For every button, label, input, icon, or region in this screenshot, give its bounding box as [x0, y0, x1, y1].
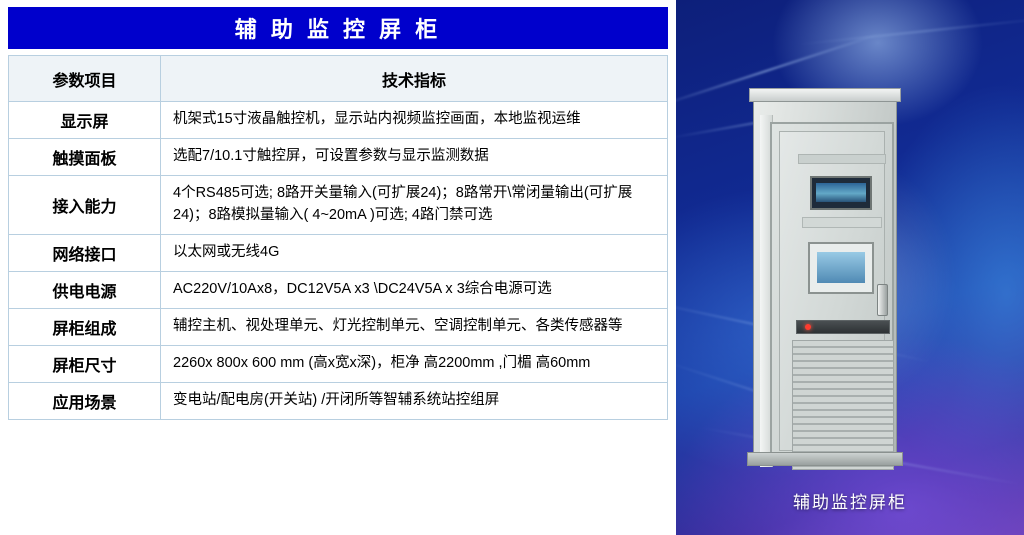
table-row: 网络接口 以太网或无线4G — [9, 234, 668, 271]
cabinet-vent-grille — [792, 340, 894, 470]
cabinet-panel-strip — [802, 217, 882, 228]
cabinet-touch-panel-icon — [808, 242, 874, 294]
specification-table: 参数项目 技术指标 显示屏 机架式15寸液晶触控机，显示站内视频监控画面，本地监… — [8, 55, 668, 420]
cabinet-label-strip — [798, 154, 886, 164]
cabinet-base — [747, 452, 903, 466]
row-value: 2260x 800x 600 mm (高x宽x深)，柜净 高2200mm ,门楣… — [161, 345, 668, 382]
product-image-panel: 辅助监控屏柜 — [676, 0, 1024, 535]
row-value: 变电站/配电房(开关站) /开闭所等智辅系统站控组屏 — [161, 382, 668, 419]
row-value: AC220V/10Ax8，DC12V5A x3 \DC24V5A x 3综合电源… — [161, 271, 668, 308]
table-row: 应用场景 变电站/配电房(开关站) /开闭所等智辅系统站控组屏 — [9, 382, 668, 419]
table-row: 显示屏 机架式15寸液晶触控机，显示站内视频监控画面，本地监视运维 — [9, 102, 668, 139]
image-caption: 辅助监控屏柜 — [676, 488, 1024, 513]
spec-table-panel: 辅 助 监 控 屏 柜 参数项目 技术指标 显示屏 机架式15寸液晶触控机，显示… — [0, 0, 676, 535]
column-header-value: 技术指标 — [161, 56, 668, 102]
cabinet-body — [753, 101, 897, 453]
cabinet-top-display-icon — [810, 176, 872, 210]
row-value: 辅控主机、视处理单元、灯光控制单元、空调控制单元、各类传感器等 — [161, 308, 668, 345]
row-param: 接入能力 — [9, 176, 161, 235]
row-value: 以太网或无线4G — [161, 234, 668, 271]
row-value: 机架式15寸液晶触控机，显示站内视频监控画面，本地监视运维 — [161, 102, 668, 139]
cabinet-illustration — [747, 88, 903, 466]
page-title: 辅 助 监 控 屏 柜 — [8, 7, 668, 49]
row-param: 应用场景 — [9, 382, 161, 419]
cabinet-indicator-bar — [796, 320, 890, 334]
power-led-icon — [805, 324, 811, 330]
row-value: 选配7/10.1寸触控屏，可设置参数与显示监测数据 — [161, 139, 668, 176]
table-row: 屏柜组成 辅控主机、视处理单元、灯光控制单元、空调控制单元、各类传感器等 — [9, 308, 668, 345]
row-param: 触摸面板 — [9, 139, 161, 176]
column-header-param: 参数项目 — [9, 56, 161, 102]
table-row: 供电电源 AC220V/10Ax8，DC12V5A x3 \DC24V5A x … — [9, 271, 668, 308]
row-param: 显示屏 — [9, 102, 161, 139]
row-param: 网络接口 — [9, 234, 161, 271]
row-param: 供电电源 — [9, 271, 161, 308]
row-value: 4个RS485可选; 8路开关量输入(可扩展24)；8路常开\常闭量输出(可扩展… — [161, 176, 668, 235]
cabinet-top-cap — [749, 88, 901, 102]
row-param: 屏柜组成 — [9, 308, 161, 345]
table-header-row: 参数项目 技术指标 — [9, 56, 668, 102]
table-row: 屏柜尺寸 2260x 800x 600 mm (高x宽x深)，柜净 高2200m… — [9, 345, 668, 382]
page-root: 辅 助 监 控 屏 柜 参数项目 技术指标 显示屏 机架式15寸液晶触控机，显示… — [0, 0, 1024, 535]
cabinet-door-handle — [877, 284, 888, 316]
cabinet-door — [770, 122, 894, 460]
table-row: 触摸面板 选配7/10.1寸触控屏，可设置参数与显示监测数据 — [9, 139, 668, 176]
row-param: 屏柜尺寸 — [9, 345, 161, 382]
table-row: 接入能力 4个RS485可选; 8路开关量输入(可扩展24)；8路常开\常闭量输… — [9, 176, 668, 235]
